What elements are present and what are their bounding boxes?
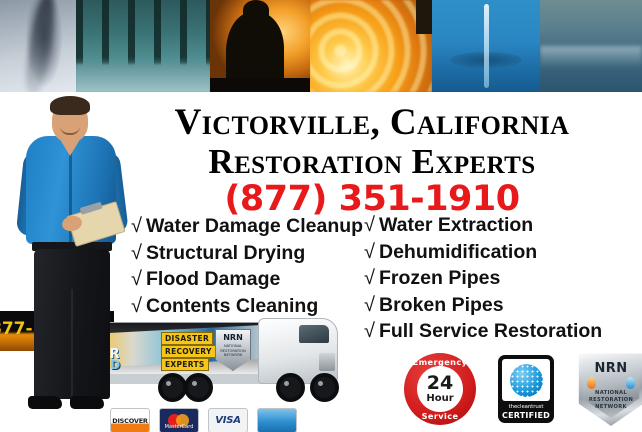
truck-wheel <box>184 373 213 402</box>
trailer-tag-recovery: RECOVERY <box>161 345 216 358</box>
restoration-ad-banner: Victorville, California Restoration Expe… <box>0 0 642 432</box>
fire-dark-edge <box>416 0 432 34</box>
cleantrust-logo-panel <box>502 359 550 401</box>
water-column <box>484 4 489 88</box>
man-shoe <box>28 396 62 409</box>
cab-window <box>299 325 329 343</box>
cleantrust-status: CERTIFIED <box>502 411 550 420</box>
discover-card-icon: DISCOVER <box>110 408 150 432</box>
headline-location: Victorville, California <box>110 104 634 141</box>
check-icon: √ <box>131 242 142 264</box>
emergency-service-badge: Emergency 24 Hour Service <box>404 353 476 425</box>
hero-photo-fire <box>310 0 432 92</box>
hero-photo-storm <box>76 0 210 92</box>
discover-label: DISCOVER <box>112 417 148 425</box>
man-hair <box>50 96 90 115</box>
check-icon: √ <box>131 295 142 317</box>
mastercard-card-icon: MasterCard <box>159 408 199 432</box>
emergency-badge-center: 24 Hour <box>417 366 463 412</box>
service-label: Water Damage Cleanup <box>146 215 363 237</box>
truck-wheel <box>276 373 305 402</box>
service-item: √Dehumidification <box>364 239 602 266</box>
service-label: Structural Drying <box>146 242 305 264</box>
emergency-hours-unit: Hour <box>426 394 453 404</box>
hero-photo-strip <box>0 0 642 92</box>
service-item: √Broken Pipes <box>364 292 602 319</box>
service-item: √Water Extraction <box>364 212 602 239</box>
check-icon: √ <box>364 294 375 316</box>
firefighter-silhouette <box>226 12 284 84</box>
emergency-hours-number: 24 <box>427 374 453 393</box>
service-label: Dehumidification <box>379 241 537 263</box>
wave-crest <box>540 46 642 68</box>
trailer-nrn-title: NRN <box>216 333 250 342</box>
service-label: Broken Pipes <box>379 294 504 316</box>
nrn-sub-line1: NATIONAL <box>576 390 642 397</box>
services-list-left: √Water Damage Cleanup √Structural Drying… <box>131 213 363 319</box>
service-item: √Flood Damage <box>131 266 363 293</box>
amex-card-icon <box>257 408 297 432</box>
headline-subtitle: Restoration Experts <box>110 144 634 179</box>
service-label: Flood Damage <box>146 268 280 290</box>
cleantrust-brand: thecleantrust <box>502 404 550 410</box>
check-icon: √ <box>364 214 375 236</box>
service-item: √Full Service Restoration <box>364 318 602 345</box>
service-label: Frozen Pipes <box>379 267 500 289</box>
hero-photo-water-drop <box>432 0 540 92</box>
nrn-shield-badge: NRN NATIONAL RESTORATION NETWORK <box>576 352 642 426</box>
trailer-tag-experts: EXPERTS <box>161 358 209 371</box>
firefighter-ground <box>210 78 310 92</box>
storm-road <box>76 64 210 92</box>
hero-photo-wave <box>540 0 642 92</box>
man-shoe <box>70 396 104 409</box>
service-label: Full Service Restoration <box>379 320 602 342</box>
trust-badges: Emergency 24 Hour Service thecleantrust … <box>404 352 642 426</box>
check-icon: √ <box>364 267 375 289</box>
check-icon: √ <box>131 215 142 237</box>
trailer-nrn-shield-icon: NRN NATIONAL RESTORATION NETWORK <box>215 329 251 371</box>
check-icon: √ <box>364 320 375 342</box>
check-icon: √ <box>131 268 142 290</box>
emergency-bottom-text: Service <box>404 411 476 421</box>
cleantrust-certified-badge: thecleantrust CERTIFIED <box>498 355 554 423</box>
nrn-sub-line3: NETWORK <box>576 404 642 411</box>
trailer-nrn-sub: NATIONAL RESTORATION NETWORK <box>216 344 250 358</box>
service-label: Contents Cleaning <box>146 295 318 317</box>
nrn-subtitle: NATIONAL RESTORATION NETWORK <box>576 390 642 411</box>
trailer-tag-disaster: DISASTER <box>161 332 213 345</box>
service-item: √Water Damage Cleanup <box>131 213 363 240</box>
hero-photo-firefighter <box>210 0 310 92</box>
globe-icon <box>510 364 543 397</box>
check-icon: √ <box>364 241 375 263</box>
man-pants <box>34 249 110 399</box>
nrn-title: NRN <box>576 361 642 376</box>
service-item: √Contents Cleaning <box>131 293 363 320</box>
water-drop-icon <box>626 377 635 389</box>
visa-card-icon: VISA <box>208 408 248 432</box>
mastercard-label: MasterCard <box>160 424 198 430</box>
cab-grill <box>319 353 335 371</box>
nrn-sub-line2: RESTORATION <box>576 397 642 404</box>
technician-photo <box>10 96 130 432</box>
hero-photo-tornado <box>0 0 76 92</box>
visa-label: VISA <box>215 415 241 426</box>
headline-block: Victorville, California Restoration Expe… <box>110 104 634 218</box>
service-item: √Structural Drying <box>131 240 363 267</box>
service-item: √Frozen Pipes <box>364 265 602 292</box>
service-label: Water Extraction <box>379 214 533 236</box>
fire-texture <box>310 0 432 92</box>
services-list-right: √Water Extraction √Dehumidification √Fro… <box>364 212 602 345</box>
truck-wheel <box>310 373 339 402</box>
truck-wheel <box>158 373 187 402</box>
flame-icon <box>587 377 596 389</box>
payment-methods: DISCOVER MasterCard VISA <box>110 408 297 432</box>
emergency-top-text: Emergency <box>404 357 476 367</box>
